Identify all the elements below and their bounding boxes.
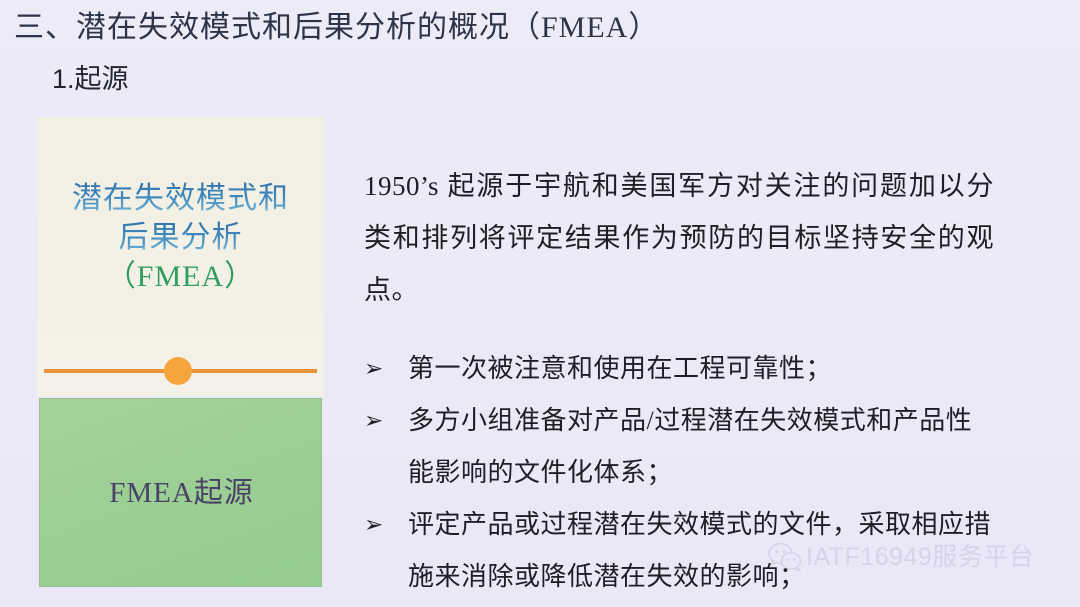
list-item-text: 评定产品或过程潜在失效模式的文件，采取相应措施来消除或降低潜在失效的影响； (408, 510, 991, 591)
fmea-concept-card: 潜在失效模式和 后果分析 （FMEA） (37, 117, 324, 396)
divider (37, 358, 324, 388)
list-item-text: 多方小组准备对产品/过程潜在失效模式和产品性能影响的文件化体系； (408, 406, 972, 487)
divider-dot-icon (164, 357, 192, 385)
fmea-origin-card-label: FMEA起源 (40, 474, 323, 512)
section-subtitle: 1.起源 (52, 62, 129, 96)
page-title: 三、潜在失效模式和后果分析的概况（FMEA） (14, 8, 659, 48)
bullet-list: ➢ 第一次被注意和使用在工程可靠性； ➢ 多方小组准备对产品/过程潜在失效模式和… (364, 343, 994, 603)
fmea-concept-line-3: （FMEA） (37, 257, 324, 297)
fmea-concept-card-text: 潜在失效模式和 后果分析 （FMEA） (37, 179, 324, 297)
list-item: ➢ 评定产品或过程潜在失效模式的文件，采取相应措施来消除或降低潜在失效的影响； (364, 499, 994, 603)
arrow-bullet-icon: ➢ (364, 395, 394, 447)
arrow-bullet-icon: ➢ (364, 343, 394, 395)
list-item: ➢ 多方小组准备对产品/过程潜在失效模式和产品性能影响的文件化体系； (364, 395, 994, 499)
list-item: ➢ 第一次被注意和使用在工程可靠性； (364, 343, 994, 395)
fmea-origin-card: FMEA起源 (39, 398, 322, 587)
fmea-concept-line-2: 后果分析 (37, 218, 324, 257)
list-item-text: 第一次被注意和使用在工程可靠性； (408, 354, 832, 383)
slide-canvas: 三、潜在失效模式和后果分析的概况（FMEA） 1.起源 潜在失效模式和 后果分析… (0, 0, 1080, 607)
content-column: 1950’s 起源于宇航和美国军方对关注的问题加以分类和排列将评定结果作为预防的… (364, 133, 994, 603)
fmea-concept-line-1: 潜在失效模式和 (37, 179, 324, 218)
arrow-bullet-icon: ➢ (364, 499, 394, 551)
intro-paragraph: 1950’s 起源于宇航和美国军方对关注的问题加以分类和排列将评定结果作为预防的… (364, 160, 994, 316)
